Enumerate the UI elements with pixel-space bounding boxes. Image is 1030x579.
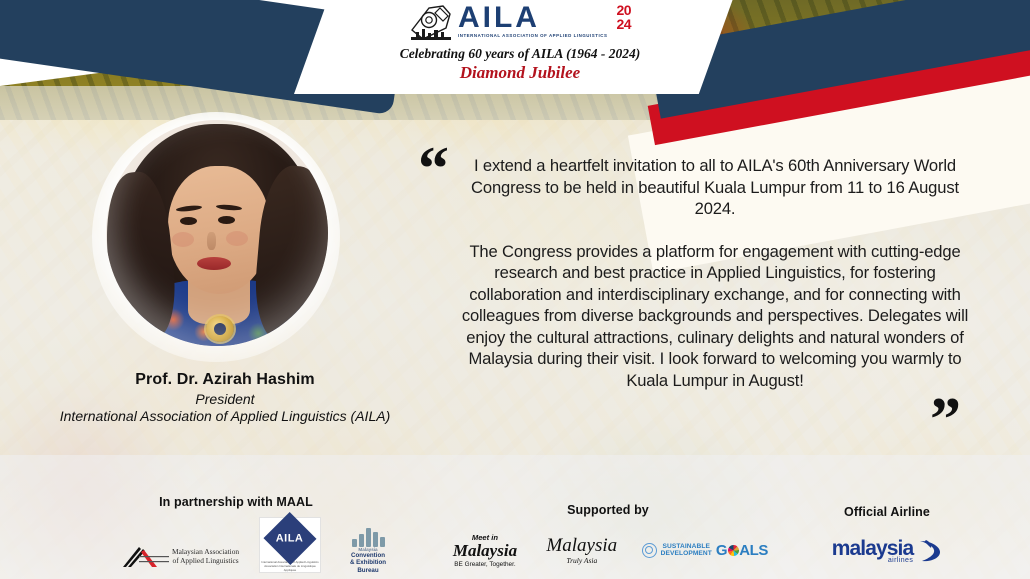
supported-by-section: Supported by Meet in Malaysia BE Greater…: [448, 503, 768, 573]
un-emblem-icon: [642, 543, 657, 558]
partnership-section: In partnership with MAAL Malaysian Assoc…: [70, 495, 450, 573]
quote-open-icon: “: [418, 147, 449, 191]
pen-nib-gear-icon: [409, 4, 453, 42]
mceb-logo: Malaysia Convention & Exhibition Bureau: [339, 527, 397, 573]
speaker-name: Prof. Dr. Azirah Hashim: [0, 371, 450, 389]
speaker-portrait: [106, 120, 328, 346]
sdg-logo: SUSTAINABLE DEVELOPMENT G ALS: [642, 542, 768, 559]
anniversary-tagline: Celebrating 60 years of AILA (1964 - 202…: [400, 46, 641, 62]
wau-kite-icon: [916, 538, 942, 564]
maal-logo: Malaysian Association of Applied Linguis…: [123, 539, 241, 573]
sdg-line-2: DEVELOPMENT: [661, 550, 712, 557]
mceb-line-3: & Exhibition: [339, 559, 397, 566]
speaker-organisation: International Association of Applied Lin…: [0, 408, 450, 424]
aila-diamond-text: AILA: [276, 532, 304, 544]
partnership-heading: In partnership with MAAL: [22, 495, 450, 509]
mim-line-3: BE Greater, Together.: [448, 561, 522, 568]
aila-wordmark: AILA: [458, 4, 608, 32]
quote-paragraph-2: The Congress provides a platform for eng…: [455, 241, 975, 392]
speaker-info: Prof. Dr. Azirah Hashim President Intern…: [0, 371, 450, 424]
maal-line-1: Malaysian Association: [172, 547, 239, 556]
year-top: 20: [616, 3, 631, 17]
mim-line-2: Malaysia: [448, 542, 522, 559]
sdg-line-1: SUSTAINABLE: [661, 543, 712, 550]
mta-line-1: Malaysia: [544, 536, 620, 555]
meet-in-malaysia-logo: Meet in Malaysia BE Greater, Together.: [448, 533, 522, 568]
aila-logo-subtitle: INTERNATIONAL ASSOCIATION OF APPLIED LIN…: [458, 33, 608, 38]
mta-line-2: Truly Asia: [544, 556, 620, 565]
maal-line-2: of Applied Linguistics: [172, 556, 239, 565]
malaysia-airlines-logo: malaysia airlines: [832, 538, 943, 564]
official-airline-heading: Official Airline: [762, 505, 1012, 519]
diamond-jubilee-label: Diamond Jubilee: [460, 63, 580, 83]
maal-roof-icon: [123, 544, 169, 568]
mas-wordmark: malaysia: [832, 539, 914, 559]
aila-2024-invitation-slide: AILA INTERNATIONAL ASSOCIATION OF APPLIE…: [0, 0, 1030, 579]
sdg-g: G: [716, 542, 727, 559]
mceb-line-2: Convention: [339, 552, 397, 559]
sdg-color-wheel-icon: [728, 545, 739, 556]
malaysia-truly-asia-logo: Malaysia Truly Asia: [544, 536, 620, 565]
quote-close-icon: ”: [930, 398, 961, 442]
aila-diamond-icon: AILA: [263, 512, 316, 565]
supported-by-heading: Supported by: [448, 503, 768, 517]
aila-logo: AILA INTERNATIONAL ASSOCIATION OF APPLIE…: [390, 4, 650, 88]
mceb-line-4: Bureau: [339, 567, 397, 574]
speaker-role: President: [0, 391, 450, 407]
aila-square-logo: AILA International Association of Applie…: [259, 517, 321, 573]
year-bottom: 24: [616, 17, 631, 31]
official-airline-section: Official Airline malaysia airlines: [762, 505, 1012, 573]
year-2024: 20 24: [616, 3, 631, 31]
skyline-icon: [339, 527, 397, 547]
invitation-message: I extend a heartfelt invitation to all t…: [455, 155, 975, 391]
quote-paragraph-1: I extend a heartfelt invitation to all t…: [455, 155, 975, 220]
